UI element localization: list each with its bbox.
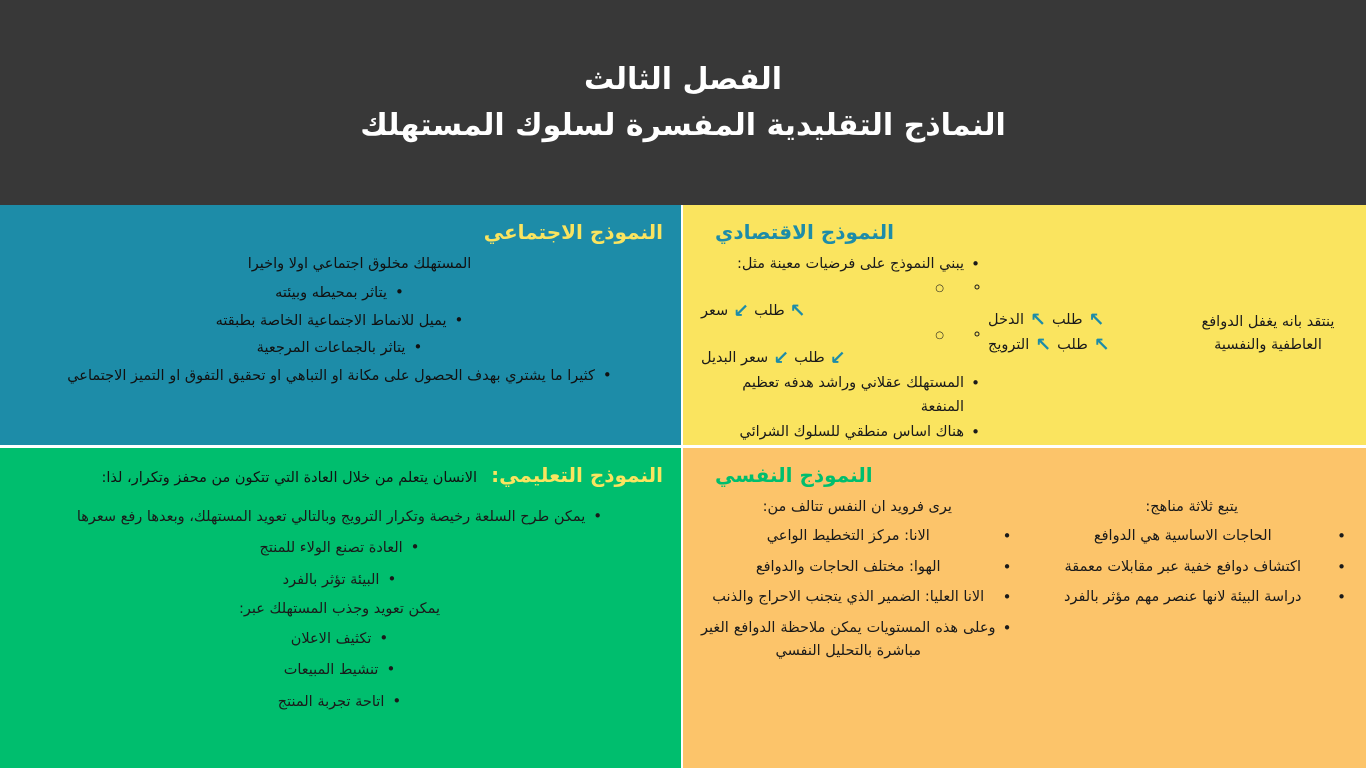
educational-via-label: يمكن تعويد وجذب المستهلك عبر: [16,598,663,621]
list-item: يتاثر بمحيطه وبيئته [16,280,663,305]
educational-bullet-list: يمكن طرح السلعة رخيصة وتكرار الترويج وبا… [16,504,663,592]
social-body: المستهلك مخلوق اجتماعي اولا واخيرا يتاثر… [16,253,663,388]
list-item: تنشيط المبيعات [16,657,663,682]
arrow-up-left-icon: ↖ [790,302,806,321]
sub-item-demand: طلب [754,300,785,323]
economic-main-list: يبني النموذج على فرضيات معينة مثل: سعر ↙… [701,253,988,445]
sub-item-demand: طلب [794,347,825,370]
list-item: البيئة تؤثر بالفرد [16,567,663,592]
social-title: النموذج الاجتماعي [16,219,663,245]
arrow-row-income: الدخل ↖ طلب ↖ [988,309,1188,332]
list-item: تكثيف الاعلان [16,626,663,651]
arrow-down-left-icon: ↙ [830,349,846,368]
arrow-down-left-icon: ↙ [773,349,789,368]
arrow-row-promotion: الترويج ↖ طلب ↖ [988,334,1188,357]
freud-list: الانا: مركز التخطيط الواعي الهوا: مختلف … [701,525,1014,663]
arrow-demand-label: طلب [1052,309,1083,332]
slide-title: النماذج التقليدية المفسرة لسلوك المستهلك [360,105,1006,146]
economic-title: النموذج الاقتصادي [701,219,1348,245]
quadrant-economic: النموذج الاقتصادي ينتقد بانه يغفل الدواف… [683,205,1366,445]
approaches-list: الحاجات الاساسية هي الدوافع اكتشاف دوافع… [1036,525,1349,609]
economic-lead-text: يبني النموذج على فرضيات معينة مثل: [737,256,964,272]
chapter-label: الفصل الثالث [584,59,782,100]
list-item: اكتشاف دوافع خفية عبر مقابلات معمقة [1036,556,1349,579]
list-item: المستهلك عقلاني وراشد هدفه تعظيم المنفعة [701,372,982,419]
arrow-demand-label: طلب [1057,334,1088,357]
slide-header: الفصل الثالث النماذج التقليدية المفسرة ل… [0,0,1366,205]
arrow-up-left-icon: ↖ [1030,311,1046,330]
economic-lead-list: يبني النموذج على فرضيات معينة مثل: سعر ↙… [701,253,982,370]
psychological-approaches-column: يتبع ثلاثة مناهج: الحاجات الاساسية هي ال… [1036,496,1349,671]
list-item: يميل للانماط الاجتماعية الخاصة بطبقته [16,308,663,333]
arrow-up-left-icon: ↖ [1089,311,1105,330]
list-item: اتاحة تجربة المنتج [16,689,663,714]
psychological-freud-column: يرى فرويد ان النفس تتالف من: الانا: مركز… [701,496,1014,671]
economic-critique-note: ينتقد بانه يغفل الدوافع العاطفية والنفسي… [1188,253,1348,357]
educational-title: النموذج التعليمي: [491,462,663,488]
educational-header-row: النموذج التعليمي: الانسان يتعلم من خلال … [16,462,663,490]
list-item: يمكن طرح السلعة رخيصة وتكرار الترويج وبا… [16,504,663,529]
educational-body: يمكن طرح السلعة رخيصة وتكرار الترويج وبا… [16,504,663,714]
social-intro-text: المستهلك مخلوق اجتماعي اولا واخيرا [16,253,663,276]
list-item: هناك اساس منطقي للسلوك الشرائي [701,421,982,444]
quadrant-educational: النموذج التعليمي: الانسان يتعلم من خلال … [0,448,681,768]
arrow-up-left-icon: ↖ [1094,336,1110,355]
list-item: الهوا: مختلف الحاجات والدوافع [701,556,1014,579]
quadrant-social: النموذج الاجتماعي المستهلك مخلوق اجتماعي… [0,205,681,445]
arrow-factor-label: الدخل [988,309,1024,332]
list-item: سعر ↙ طلب ↖ [701,276,964,323]
economic-arrow-group: الدخل ↖ طلب ↖ الترويج ↖ طلب ↖ [988,253,1188,359]
list-item: دراسة البيئة لانها عنصر مهم مؤثر بالفرد [1036,586,1349,609]
educational-via-list: تكثيف الاعلان تنشيط المبيعات اتاحة تجربة… [16,626,663,714]
arrow-factor-label: الترويج [988,334,1029,357]
approaches-lead: يتبع ثلاثة مناهج: [1036,496,1349,519]
arrow-up-left-icon: ↖ [1035,336,1051,355]
list-item: كثيرا ما يشتري بهدف الحصول على مكانة او … [16,363,663,388]
list-item: سعر البديل ↙ طلب ↙ [701,323,964,370]
economic-tail-list: المستهلك عقلاني وراشد هدفه تعظيم المنفعة… [701,372,982,444]
social-bullet-list: يتاثر بمحيطه وبيئته يميل للانماط الاجتما… [16,280,663,388]
psychological-title: النموذج النفسي [701,462,1348,488]
slide-root: الفصل الثالث النماذج التقليدية المفسرة ل… [0,0,1366,768]
economic-sub-list: سعر ↙ طلب ↖ سعر البديل [701,276,964,370]
sub-item-label: سعر [701,300,728,323]
quadrant-grid: النموذج الاقتصادي ينتقد بانه يغفل الدواف… [0,205,1366,768]
list-item: الحاجات الاساسية هي الدوافع [1036,525,1349,548]
sub-item-label: سعر البديل [701,347,768,370]
educational-lead: الانسان يتعلم من خلال العادة التي تتكون … [102,468,478,490]
list-item: يتاثر بالجماعات المرجعية [16,335,663,360]
list-item: وعلى هذه المستويات يمكن ملاحظة الدوافع ا… [701,617,1014,664]
quadrant-psychological: النموذج النفسي يتبع ثلاثة مناهج: الحاجات… [683,448,1366,768]
list-item: الانا العليا: الضمير الذي يتجنب الاحراج … [701,586,1014,609]
list-item: العادة تصنع الولاء للمنتج [16,535,663,560]
list-item: يبني النموذج على فرضيات معينة مثل: سعر ↙… [701,253,982,370]
arrow-down-left-icon: ↙ [733,302,749,321]
freud-lead: يرى فرويد ان النفس تتالف من: [701,496,1014,519]
list-item: الانا: مركز التخطيط الواعي [701,525,1014,548]
